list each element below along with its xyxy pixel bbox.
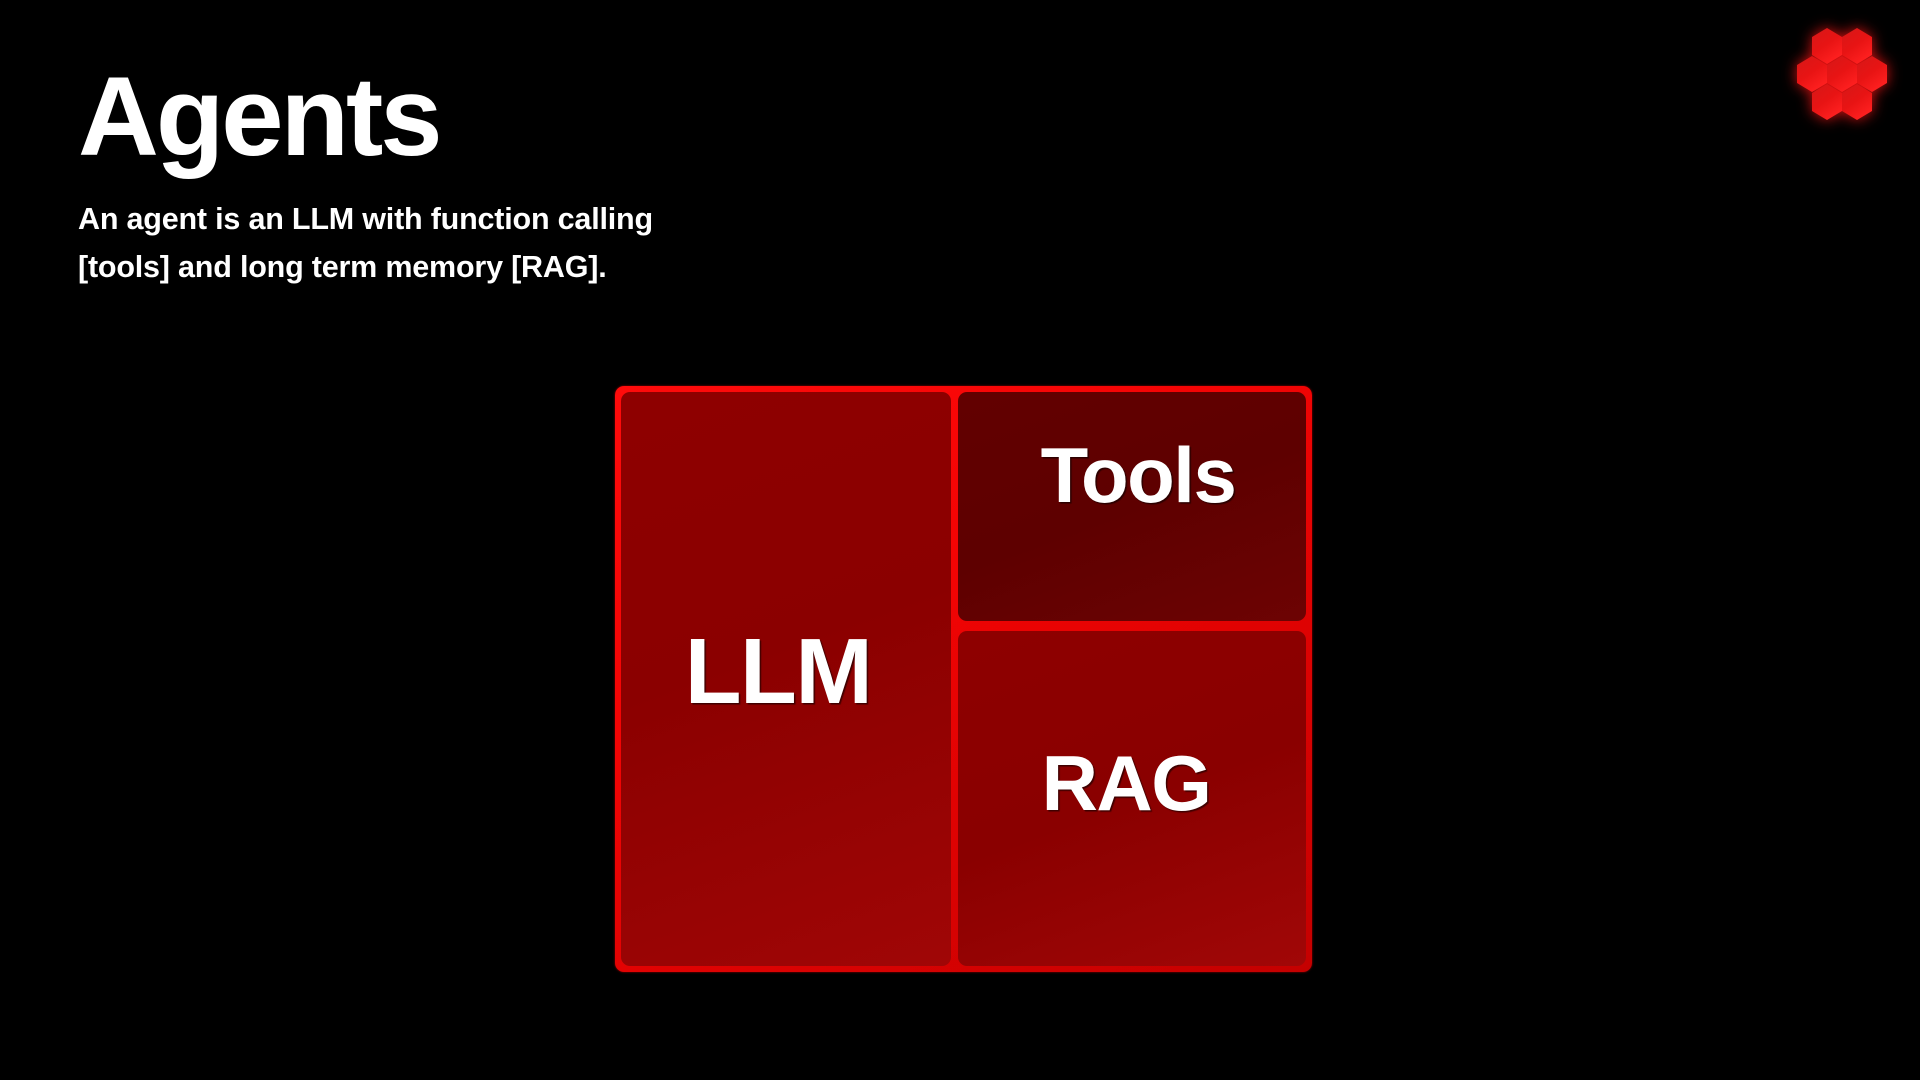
title-block: Agents An agent is an LLM with function …: [78, 58, 653, 291]
diagram-panel-llm-label: LLM: [685, 625, 872, 718]
page-title: Agents: [78, 58, 653, 177]
diagram-panel-rag[interactable]: RAG: [958, 631, 1306, 966]
hexagon-honeycomb-icon: [1786, 24, 1898, 140]
diagram-panel-tools[interactable]: Tools: [958, 392, 1306, 621]
subtitle-line-2: [tools] and long term memory [RAG].: [78, 243, 653, 291]
hexagon-honeycomb-logo: [1786, 24, 1898, 140]
diagram-panel-rag-label: RAG: [1042, 744, 1211, 822]
slide-canvas: Agents An agent is an LLM with function …: [0, 0, 1920, 1080]
subtitle-line-1: An agent is an LLM with function calling: [78, 195, 653, 243]
diagram-panel-llm[interactable]: LLM: [621, 392, 951, 966]
diagram-panel-tools-label: Tools: [1041, 436, 1236, 514]
diagram-right-column: Tools RAG: [958, 392, 1306, 966]
agent-architecture-diagram: LLM Tools RAG: [615, 386, 1312, 972]
subtitle: An agent is an LLM with function calling…: [78, 195, 653, 291]
